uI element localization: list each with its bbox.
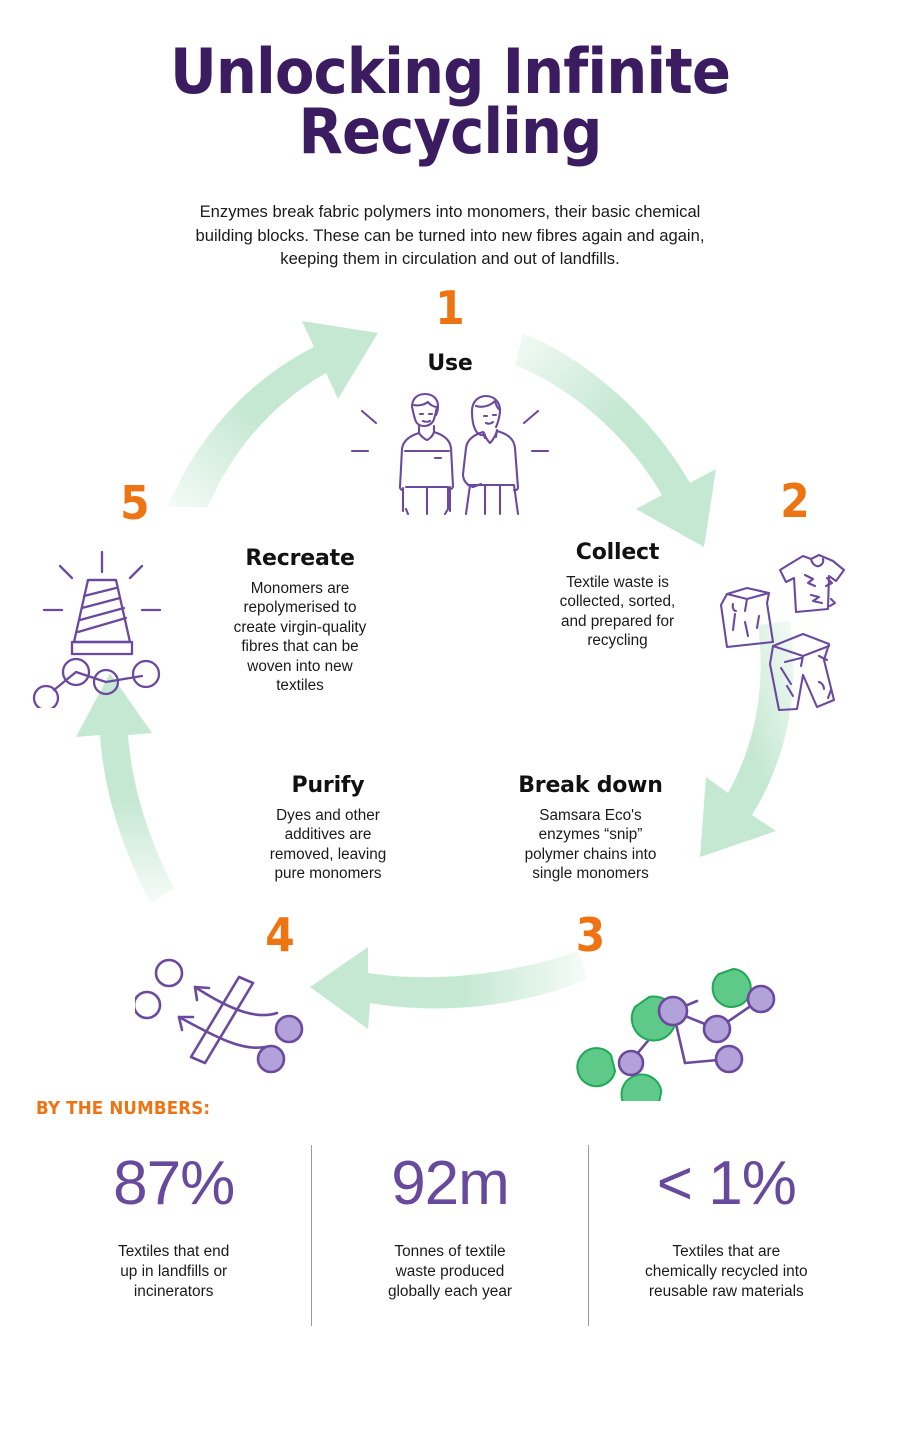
stat-card: 87% Textiles that end up in landfills or… <box>36 1145 311 1326</box>
filter-membrane-icon <box>135 955 325 1100</box>
step-desc-breakdown: Samsara Eco's enzymes “snip” polymer cha… <box>473 806 708 884</box>
stat-value: < 1% <box>607 1151 846 1216</box>
enzyme-polymer-chain-icon <box>565 951 785 1106</box>
arrow-breakdown-to-purify <box>310 947 588 1029</box>
step-title-use: Use <box>300 353 600 375</box>
stat-card: < 1% Textiles that are chemically recycl… <box>588 1145 864 1326</box>
stat-value: 92m <box>330 1151 569 1216</box>
step-title-breakdown: Break down <box>473 775 708 797</box>
recycling-cycle-diagram: 1 Use <box>0 285 900 1105</box>
step-number-4: 4 <box>225 912 335 958</box>
page-title: Unlocking Infinite Recycling <box>32 42 869 162</box>
step-desc-collect: Textile waste is collected, sorted, and … <box>520 573 715 651</box>
intro-paragraph: Enzymes break fabric polymers into monom… <box>100 200 800 271</box>
stat-label: Textiles that are chemically recycled in… <box>607 1242 846 1302</box>
by-the-numbers-heading: BY THE NUMBERS: <box>36 1099 823 1119</box>
step-title-collect: Collect <box>520 542 715 564</box>
step-desc-recreate: Monomers are repolymerised to create vir… <box>200 579 400 696</box>
step-title-recreate: Recreate <box>200 548 400 570</box>
stat-card: 92m Tonnes of textile waste produced glo… <box>311 1145 587 1326</box>
header: Unlocking Infinite Recycling Enzymes bre… <box>0 0 900 271</box>
stat-value: 87% <box>54 1151 293 1216</box>
cycle-step-purify: Purify Dyes and other additives are remo… <box>190 775 450 958</box>
step-title-purify: Purify <box>218 775 438 797</box>
step-number-2: 2 <box>726 478 864 524</box>
step-number-5: 5 <box>120 480 398 526</box>
step-number-1: 1 <box>312 285 588 331</box>
stats-row: 87% Textiles that end up in landfills or… <box>36 1145 864 1326</box>
step-desc-purify: Dyes and other additives are removed, le… <box>218 806 438 884</box>
thread-spool-icon <box>30 548 190 713</box>
cycle-step-breakdown: Break down Samsara Eco's enzymes “snip” … <box>455 775 835 958</box>
by-the-numbers-section: BY THE NUMBERS: 87% Textiles that end up… <box>0 1099 900 1326</box>
stat-label: Tonnes of textile waste produced globall… <box>330 1242 569 1302</box>
worn-clothing-pile-icon <box>715 542 865 722</box>
stat-label: Textiles that end up in landfills or inc… <box>54 1242 293 1302</box>
cycle-step-recreate: 5 <box>30 480 410 713</box>
cycle-step-collect: 2 Collect Textile waste is collected, so… <box>520 478 880 722</box>
